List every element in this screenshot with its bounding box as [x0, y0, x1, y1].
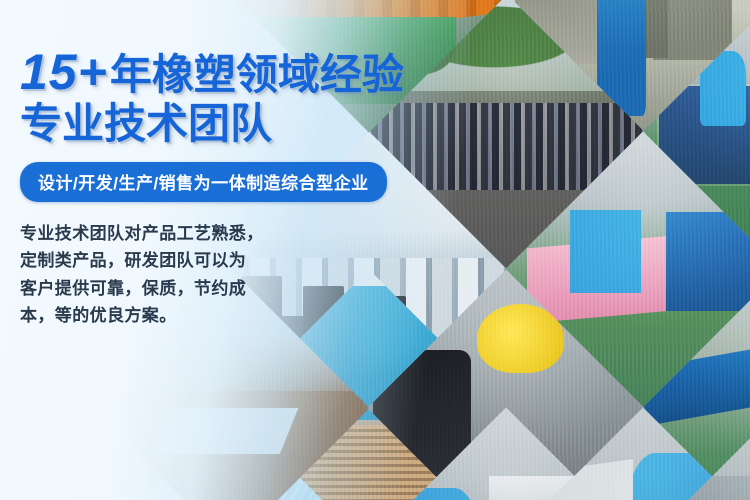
marketing-copy: 15+年橡塑领域经验 专业技术团队 设计/开发/生产/销售为一体制造综合型企业 …	[20, 46, 450, 330]
body-paragraph: 专业技术团队对产品工艺熟悉， 定制类产品，研发团队可以为 客户提供可靠，保质，节…	[20, 220, 282, 330]
business-scope-pill: 设计/开发/生产/销售为一体制造综合型企业	[20, 162, 387, 202]
headline: 15+年橡塑领域经验 专业技术团队	[20, 46, 450, 146]
body-line: 客户提供可靠，保质，节约成	[20, 275, 282, 303]
promo-banner: 15+年橡塑领域经验 专业技术团队 设计/开发/生产/销售为一体制造综合型企业 …	[0, 0, 750, 500]
body-line: 本，等的优良方案。	[20, 302, 282, 330]
headline-line1-text: 年橡塑领域经验	[110, 51, 404, 98]
headline-line2-text: 专业技术团队	[20, 102, 450, 146]
body-line: 定制类产品，研发团队可以为	[20, 247, 282, 275]
headline-years-number: 15+	[20, 44, 110, 100]
body-line: 专业技术团队对产品工艺熟悉，	[20, 220, 282, 248]
